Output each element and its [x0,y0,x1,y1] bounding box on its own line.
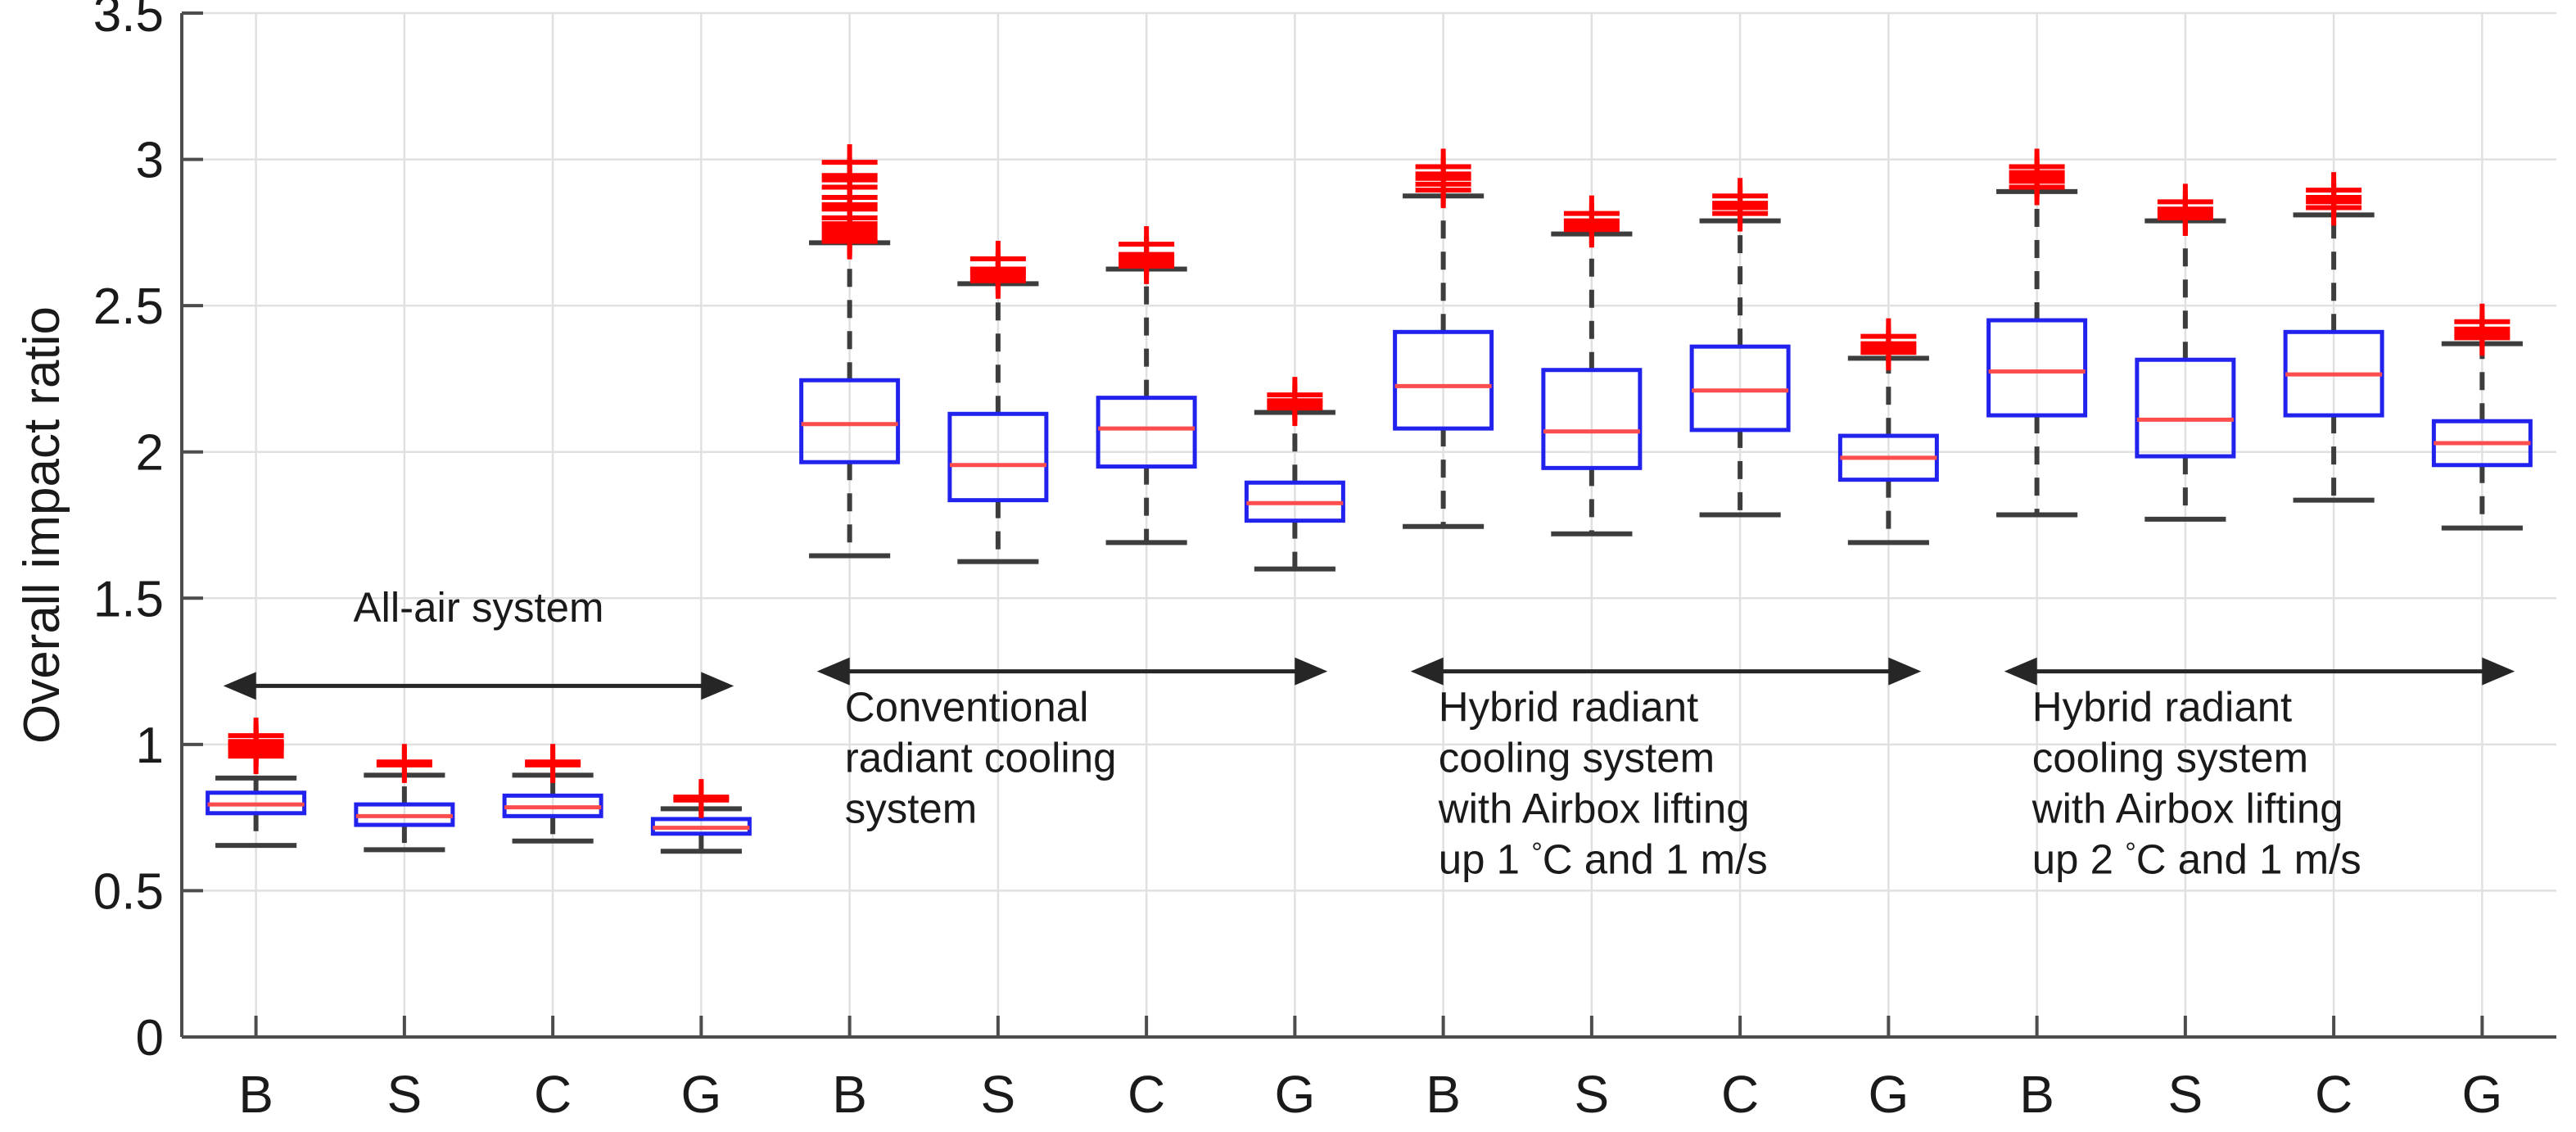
x-tick-label-9: S [1575,1065,1610,1124]
annotation-line: Hybrid radiant [2032,683,2292,730]
annotation-line: with Airbox lifting [2031,785,2343,831]
annotation-line: radiant cooling [845,734,1117,781]
x-tick-label-4: B [832,1065,867,1124]
annotation-arrow-head [701,672,734,700]
y-tick-label: 3 [136,133,164,189]
x-tick-label-12: B [2019,1065,2054,1124]
x-tick-label-10: C [1721,1065,1759,1124]
y-tick-label: 0 [136,1010,164,1066]
x-tick-label-15: G [2461,1065,2502,1124]
y-axis-title: Overall impact ratio [14,306,70,744]
x-tick-label-11: G [1868,1065,1909,1124]
annotation-line: Hybrid radiant [1439,683,1698,730]
x-tick-label-14: C [2315,1065,2352,1124]
annotation-arrow-head [2004,658,2037,686]
annotation-line: cooling system [2032,734,2308,781]
y-tick-label: 2 [136,425,164,482]
annotation-arrow-head [1295,658,1327,686]
annotation-arrow-head [2482,658,2515,686]
x-tick-label-2: C [534,1065,572,1124]
y-tick-label: 3.5 [93,0,164,43]
x-tick-label-6: C [1128,1065,1165,1124]
annotation-arrow-head [224,672,256,700]
x-tick-label-3: G [680,1065,721,1124]
annotation-arrow-head [1411,658,1444,686]
y-tick-label: 1.5 [93,571,164,627]
annotation-line: system [845,785,978,831]
x-tick-label-5: S [981,1065,1016,1124]
annotation-line: up 2 °C and 1 m/s [2032,835,2361,882]
x-tick-label-0: B [238,1065,273,1124]
chart-root: 00.511.522.533.5BSCGBSCGBSCGBSCGOverall … [0,0,2576,1132]
annotation-all-air-system: All-air system [224,584,734,700]
annotation-hybrid-radiant-cooling-2c: Hybrid radiantcooling systemwith Airbox … [2004,658,2515,883]
y-tick-label: 1 [136,718,164,774]
x-tick-label-8: B [1426,1065,1461,1124]
annotation-line: All-air system [353,584,603,631]
x-tick-label-7: G [1274,1065,1315,1124]
boxplot-figure: 00.511.522.533.5BSCGBSCGBSCGBSCGOverall … [0,0,2576,1132]
annotation-line: Conventional [845,683,1089,730]
annotation-hybrid-radiant-cooling-1c: Hybrid radiantcooling systemwith Airbox … [1411,658,1922,883]
annotation-arrow-head [817,658,850,686]
x-tick-label-1: S [387,1065,423,1124]
y-tick-label: 2.5 [93,278,164,335]
annotation-line: cooling system [1439,734,1715,781]
annotation-line: with Airbox lifting [1438,785,1750,831]
y-tick-label: 0.5 [93,863,164,920]
x-tick-label-13: S [2168,1065,2203,1124]
annotation-line: up 1 °C and 1 m/s [1439,835,1768,882]
annotation-arrow-head [1888,658,1921,686]
